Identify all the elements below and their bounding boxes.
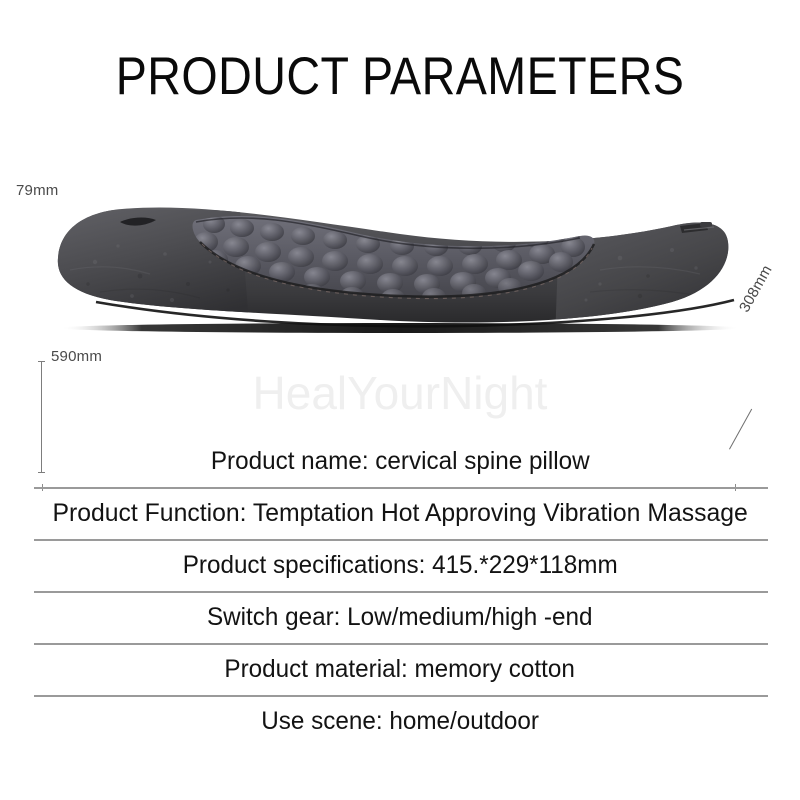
table-row: Product name: cervical spine pillow (0, 435, 800, 487)
dimension-label-height: 79mm (16, 182, 58, 199)
pillow-illustration (0, 150, 800, 380)
table-row: Product Function: Temptation Hot Approvi… (0, 487, 800, 539)
spec-product-function: Product Function: Temptation Hot Approvi… (52, 498, 747, 528)
spec-product-name: Product name: cervical spine pillow (211, 446, 590, 476)
dimension-label-width: 590mm (51, 348, 102, 365)
table-row: Use scene: home/outdoor (0, 695, 800, 747)
spec-product-material: Product material: memory cotton (225, 654, 575, 684)
spec-product-specifications: Product specifications: 415.*229*118mm (183, 550, 618, 580)
page-title: PRODUCT PARAMETERS (48, 48, 752, 106)
table-row: Product material: memory cotton (0, 643, 800, 695)
table-row: Switch gear: Low/medium/high -end (0, 591, 800, 643)
table-row: Product specifications: 415.*229*118mm (0, 539, 800, 591)
spec-switch-gear: Switch gear: Low/medium/high -end (207, 602, 593, 632)
spec-table: Product name: cervical spine pillow Prod… (0, 435, 800, 747)
spec-use-scene: Use scene: home/outdoor (261, 706, 539, 736)
watermark-text: HealYourNight (0, 366, 800, 420)
